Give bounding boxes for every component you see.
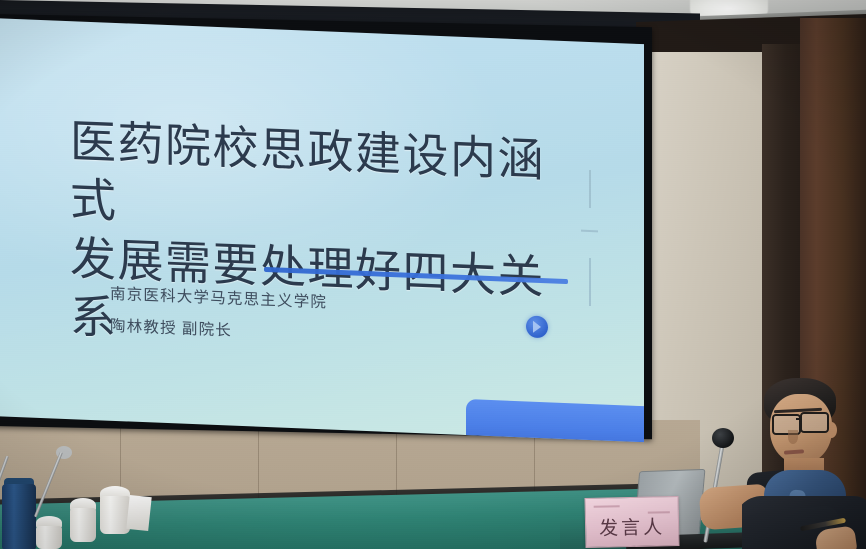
glasses-icon <box>800 412 829 433</box>
projection-screen-frame: 医药院校思政建设内涵式 发展需要处理好四大关系 南京医科大学马克思主义学院 陶林… <box>0 14 652 439</box>
speaker-nameplate: 发言人 <box>584 496 679 548</box>
slide-title-line-1: 医药院校思政建设内涵式 <box>70 113 570 250</box>
nose <box>788 430 798 444</box>
thermos <box>2 484 36 549</box>
seated-person <box>742 378 866 549</box>
slide-subtitle: 南京医科大学马克思主义学院 陶林教授 副院长 <box>110 279 327 351</box>
slide-tick-mark-dash <box>581 230 598 233</box>
glasses-bridge <box>796 418 802 420</box>
slide-tick-mark-upper <box>589 170 591 208</box>
microphone-head-right <box>712 428 734 448</box>
slide-tick-mark-lower <box>589 258 591 306</box>
conference-room-scene: 医药院校思政建设内涵式 发展需要处理好四大关系 南京医科大学马克思主义学院 陶林… <box>0 0 866 549</box>
projection-screen: 医药院校思政建设内涵式 发展需要处理好四大关系 南京医科大学马克思主义学院 陶林… <box>0 18 644 442</box>
play-arrow-icon <box>526 315 548 338</box>
slide-decor-block <box>466 399 644 442</box>
nameplate-decor-line <box>594 505 620 508</box>
teacup <box>70 508 96 542</box>
presentation-slide: 医药院校思政建设内涵式 发展需要处理好四大关系 南京医科大学马克思主义学院 陶林… <box>0 18 644 442</box>
napkin <box>126 495 151 531</box>
teacup <box>36 526 62 549</box>
nameplate-label: 发言人 <box>586 512 679 541</box>
